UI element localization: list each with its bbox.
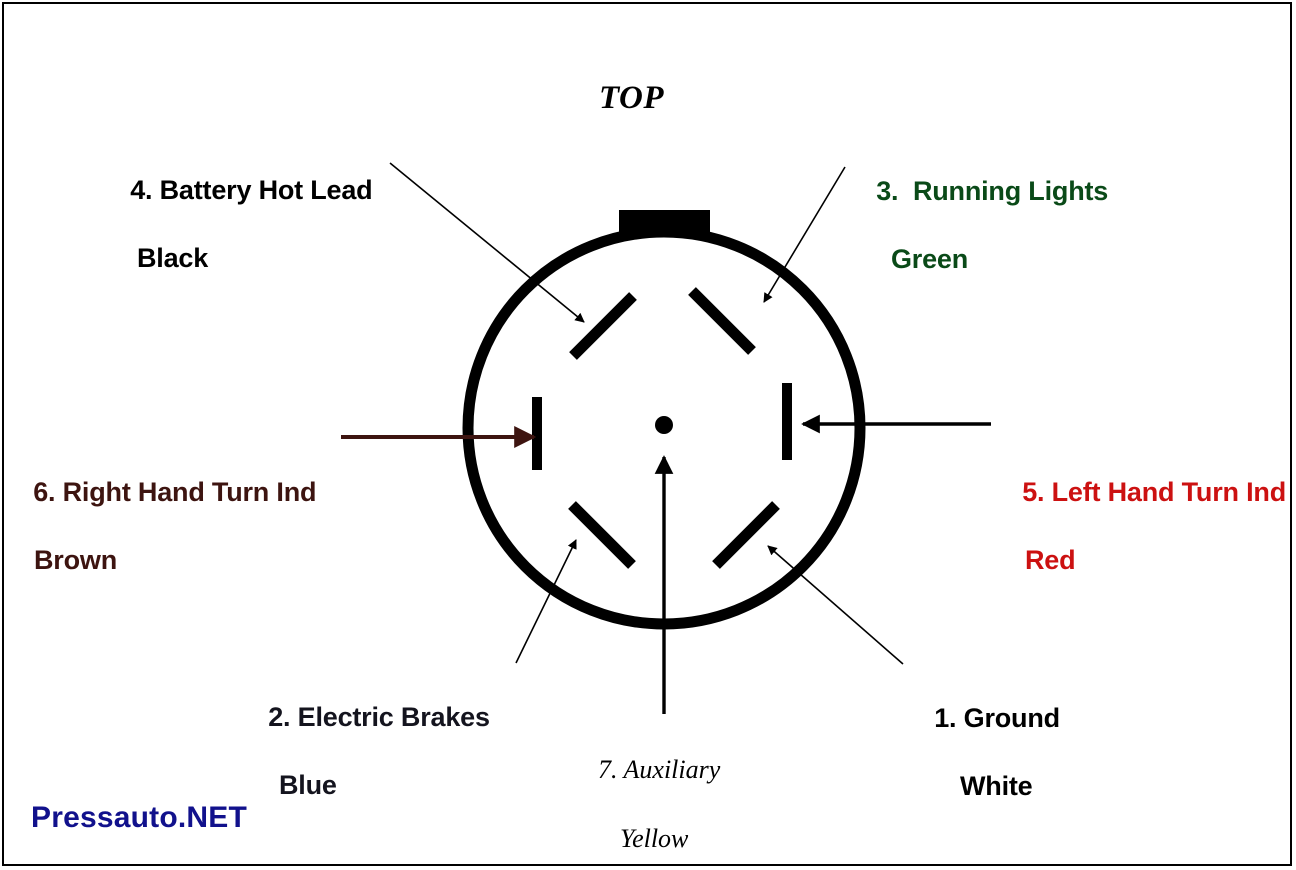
pin-label-4-line1: 4. Battery Hot Lead: [130, 175, 372, 205]
pin-label-4: 4. Battery Hot Lead Black: [101, 139, 372, 343]
leader-line-3: [764, 167, 845, 302]
pin-label-2: 2. Electric Brakes Blue: [239, 666, 490, 870]
pin-label-3-line1: 3. Running Lights: [876, 176, 1108, 206]
pin-label-3: 3. Running Lights Green: [847, 140, 1108, 344]
top-orientation-label: TOP: [599, 80, 664, 117]
diagram-page: TOP 4. Battery Hot Lead Black 3. Running…: [0, 0, 1296, 870]
pin-label-4-line2: Black: [137, 241, 372, 275]
pin-label-5-line1: 5. Left Hand Turn Ind: [1022, 477, 1286, 507]
pin-label-7: 7. Auxiliary Yellow: [572, 719, 720, 870]
pin-label-5-line2: Red: [1025, 543, 1286, 577]
pin-label-6-line1: 6. Right Hand Turn Ind: [33, 477, 316, 507]
pin-label-6: 6. Right Hand Turn Ind Brown: [4, 441, 316, 645]
leader-line-1: [768, 546, 903, 664]
pin-label-1-line1: 1. Ground: [934, 703, 1060, 733]
leader-line-4: [390, 163, 584, 322]
pin-label-2-line2: Blue: [279, 768, 490, 802]
pin-label-1: 1. Ground White: [905, 667, 1060, 870]
pin-label-2-line1: 2. Electric Brakes: [268, 702, 490, 732]
pin-label-5: 5. Left Hand Turn Ind Red: [993, 441, 1286, 645]
pin-label-6-line2: Brown: [34, 543, 316, 577]
pin-label-7-line2: Yellow: [620, 822, 720, 856]
pin-label-3-line2: Green: [891, 242, 1108, 276]
watermark-pressauto: Pressauto.NET: [31, 801, 247, 835]
pin-blade-7-center-dot: [655, 416, 673, 434]
pin-label-1-line2: White: [960, 769, 1060, 803]
pin-label-7-line1: 7. Auxiliary: [598, 755, 720, 784]
